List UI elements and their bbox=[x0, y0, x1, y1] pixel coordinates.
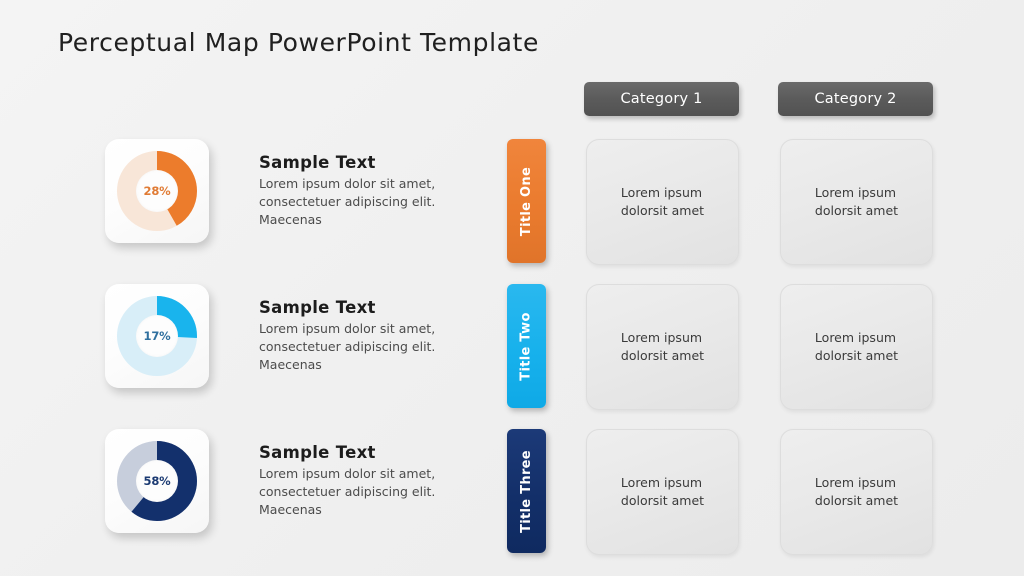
matrix-cell-text: Lorem ipsum dolorsit amet bbox=[815, 329, 898, 365]
category-header-2[interactable]: Category 2 bbox=[778, 82, 933, 116]
category-header-label: Category 1 bbox=[620, 91, 702, 107]
category-header-label: Category 2 bbox=[814, 91, 896, 107]
matrix-cell-text: Lorem ipsum dolorsit amet bbox=[621, 329, 704, 365]
matrix-cell-r2c2[interactable]: Lorem ipsum dolorsit amet bbox=[780, 284, 933, 410]
donut-chart: 28% bbox=[117, 151, 197, 231]
row-heading: Sample Text bbox=[259, 443, 489, 462]
donut-center-label-wrap: 28% bbox=[136, 170, 178, 212]
vertical-tab-label: Title Three bbox=[519, 450, 534, 533]
matrix-cell-r3c2[interactable]: Lorem ipsum dolorsit amet bbox=[780, 429, 933, 555]
matrix-cell-r3c1[interactable]: Lorem ipsum dolorsit amet bbox=[586, 429, 739, 555]
vertical-tab-label: Title One bbox=[519, 166, 534, 235]
matrix-cell-r2c1[interactable]: Lorem ipsum dolorsit amet bbox=[586, 284, 739, 410]
vertical-tab-label: Title Two bbox=[519, 312, 534, 380]
row-body-text: Lorem ipsum dolor sit amet, consectetuer… bbox=[259, 320, 489, 373]
slide-canvas: Perceptual Map PowerPoint Template Categ… bbox=[0, 0, 1024, 576]
row-heading: Sample Text bbox=[259, 153, 489, 172]
donut-center-label-wrap: 17% bbox=[136, 315, 178, 357]
row-text-block: Sample Text Lorem ipsum dolor sit amet, … bbox=[259, 443, 489, 518]
row-text-block: Sample Text Lorem ipsum dolor sit amet, … bbox=[259, 298, 489, 373]
donut-card: 17% bbox=[105, 284, 209, 388]
vertical-tab-title-three[interactable]: Title Three bbox=[507, 429, 546, 553]
vertical-tab-title-two[interactable]: Title Two bbox=[507, 284, 546, 408]
donut-card: 28% bbox=[105, 139, 209, 243]
matrix-cell-text: Lorem ipsum dolorsit amet bbox=[815, 184, 898, 220]
donut-center-label-wrap: 58% bbox=[136, 460, 178, 502]
donut-chart: 58% bbox=[117, 441, 197, 521]
content-row: 17% Sample Text Lorem ipsum dolor sit am… bbox=[0, 284, 1024, 410]
page-title: Perceptual Map PowerPoint Template bbox=[58, 28, 539, 57]
category-header-1[interactable]: Category 1 bbox=[584, 82, 739, 116]
matrix-cell-text: Lorem ipsum dolorsit amet bbox=[621, 474, 704, 510]
row-text-block: Sample Text Lorem ipsum dolor sit amet, … bbox=[259, 153, 489, 228]
donut-percent-label: 17% bbox=[144, 329, 171, 343]
vertical-tab-title-one[interactable]: Title One bbox=[507, 139, 546, 263]
donut-card: 58% bbox=[105, 429, 209, 533]
matrix-cell-text: Lorem ipsum dolorsit amet bbox=[815, 474, 898, 510]
content-row: 28% Sample Text Lorem ipsum dolor sit am… bbox=[0, 139, 1024, 265]
row-body-text: Lorem ipsum dolor sit amet, consectetuer… bbox=[259, 465, 489, 518]
matrix-cell-text: Lorem ipsum dolorsit amet bbox=[621, 184, 704, 220]
row-heading: Sample Text bbox=[259, 298, 489, 317]
matrix-cell-r1c2[interactable]: Lorem ipsum dolorsit amet bbox=[780, 139, 933, 265]
donut-percent-label: 28% bbox=[144, 184, 171, 198]
content-row: 58% Sample Text Lorem ipsum dolor sit am… bbox=[0, 429, 1024, 555]
matrix-cell-r1c1[interactable]: Lorem ipsum dolorsit amet bbox=[586, 139, 739, 265]
donut-chart: 17% bbox=[117, 296, 197, 376]
row-body-text: Lorem ipsum dolor sit amet, consectetuer… bbox=[259, 175, 489, 228]
donut-percent-label: 58% bbox=[144, 474, 171, 488]
